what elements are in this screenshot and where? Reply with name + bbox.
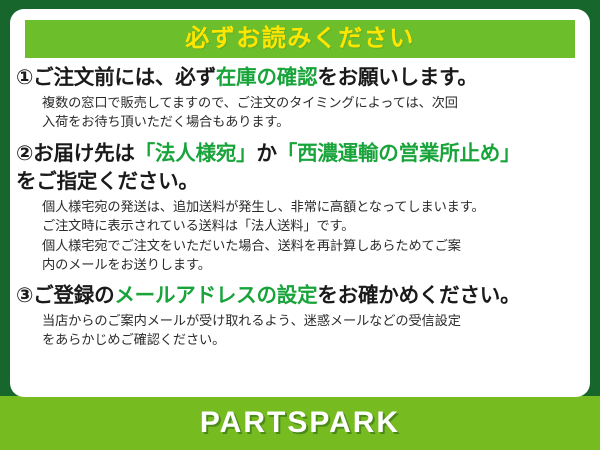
notice-item-1-heading-after: をお願いします。 bbox=[317, 66, 477, 89]
notice-item-3-marker: ③ bbox=[16, 284, 33, 307]
notice-panel: 必ずお読みください ①ご注文前には、必ず在庫の確認をお願いします。 複数の窓口で… bbox=[10, 9, 590, 397]
notice-card: 必ずお読みください ①ご注文前には、必ず在庫の確認をお願いします。 複数の窓口で… bbox=[0, 0, 600, 450]
notice-item-3-heading: ③ご登録のメールアドレスの設定をお確かめください。 bbox=[16, 282, 582, 310]
notice-item-2-body: 個人様宅宛の発送は、追加送料が発生し、非常に高額となってしまいます。 ご注文時に… bbox=[42, 197, 582, 274]
notice-item-2: ②お届け先は「法人様宛」か「西濃運輸の営業所止め」をご指定ください。 個人様宅宛… bbox=[16, 140, 582, 274]
notice-item-3-heading-highlight: メールアドレスの設定 bbox=[114, 284, 317, 307]
notice-item-2-heading: ②お届け先は「法人様宛」か「西濃運輸の営業所止め」をご指定ください。 bbox=[16, 140, 582, 196]
notice-item-1-marker: ① bbox=[16, 66, 33, 89]
notice-item-3: ③ご登録のメールアドレスの設定をお確かめください。 当店からのご案内メールが受け… bbox=[16, 282, 582, 349]
notice-item-2-heading-line2: をご指定ください。 bbox=[16, 170, 199, 193]
brand-footer: PARTSPARK bbox=[0, 396, 600, 450]
notice-item-3-heading-after: をお確かめください。 bbox=[317, 284, 520, 307]
notice-item-1-heading: ①ご注文前には、必ず在庫の確認をお願いします。 bbox=[16, 64, 582, 92]
notice-item-1: ①ご注文前には、必ず在庫の確認をお願いします。 複数の窓口で販売してますので、ご… bbox=[16, 64, 582, 131]
notice-item-2-heading-highlight: 「法人様宛」 bbox=[135, 142, 257, 165]
notice-item-2-heading-before: お届け先は bbox=[33, 142, 135, 165]
notice-item-2-heading-highlight-2: 「西濃運輸の営業所止め」 bbox=[277, 142, 521, 165]
notice-item-3-body: 当店からのご案内メールが受け取れるよう、迷惑メールなどの受信設定 をあらかじめご… bbox=[42, 311, 582, 350]
notice-body: ①ご注文前には、必ず在庫の確認をお願いします。 複数の窓口で販売してますので、ご… bbox=[10, 64, 590, 358]
notice-item-1-body: 複数の窓口で販売してますので、ご注文のタイミングによっては、次回 入荷をお待ち頂… bbox=[42, 93, 582, 132]
page-title: 必ずお読みください bbox=[185, 27, 415, 51]
notice-item-2-heading-mid: か bbox=[256, 142, 276, 165]
notice-item-1-heading-highlight: 在庫の確認 bbox=[216, 66, 318, 89]
notice-item-1-heading-before: ご注文前には、必ず bbox=[33, 66, 216, 89]
notice-header-bar: 必ずお読みください bbox=[25, 20, 575, 58]
brand-wordmark: PARTSPARK bbox=[200, 408, 400, 438]
notice-item-2-marker: ② bbox=[16, 142, 33, 165]
notice-item-3-heading-before: ご登録の bbox=[33, 284, 114, 307]
